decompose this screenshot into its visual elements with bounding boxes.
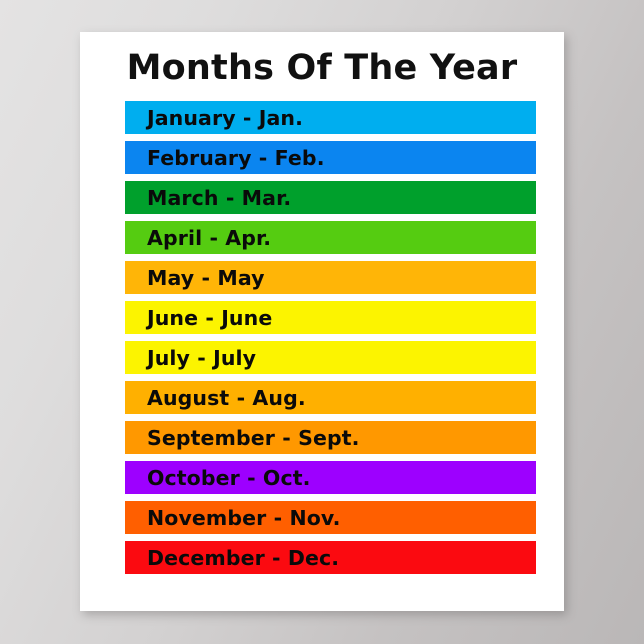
page-title: Months Of The Year: [80, 32, 564, 89]
month-label: February - Feb.: [125, 146, 325, 170]
month-label: August - Aug.: [125, 386, 306, 410]
month-row: June - June: [125, 301, 536, 334]
month-row: September - Sept.: [125, 421, 536, 454]
month-row: May - May: [125, 261, 536, 294]
month-label: June - June: [125, 306, 272, 330]
month-label: October - Oct.: [125, 466, 311, 490]
month-row: January - Jan.: [125, 101, 536, 134]
month-label: November - Nov.: [125, 506, 341, 530]
month-label: July - July: [125, 346, 256, 370]
month-row: April - Apr.: [125, 221, 536, 254]
poster-backdrop: Months Of The Year January - Jan.Februar…: [0, 0, 644, 644]
month-row: July - July: [125, 341, 536, 374]
month-list: January - Jan.February - Feb.March - Mar…: [80, 89, 564, 574]
month-label: March - Mar.: [125, 186, 291, 210]
month-label: May - May: [125, 266, 265, 290]
month-row: March - Mar.: [125, 181, 536, 214]
month-label: December - Dec.: [125, 546, 339, 570]
month-row: November - Nov.: [125, 501, 536, 534]
month-label: September - Sept.: [125, 426, 360, 450]
month-row: October - Oct.: [125, 461, 536, 494]
months-of-the-year-poster: Months Of The Year January - Jan.Februar…: [80, 32, 564, 611]
month-row: December - Dec.: [125, 541, 536, 574]
month-label: April - Apr.: [125, 226, 271, 250]
month-row: February - Feb.: [125, 141, 536, 174]
month-row: August - Aug.: [125, 381, 536, 414]
month-label: January - Jan.: [125, 106, 303, 130]
